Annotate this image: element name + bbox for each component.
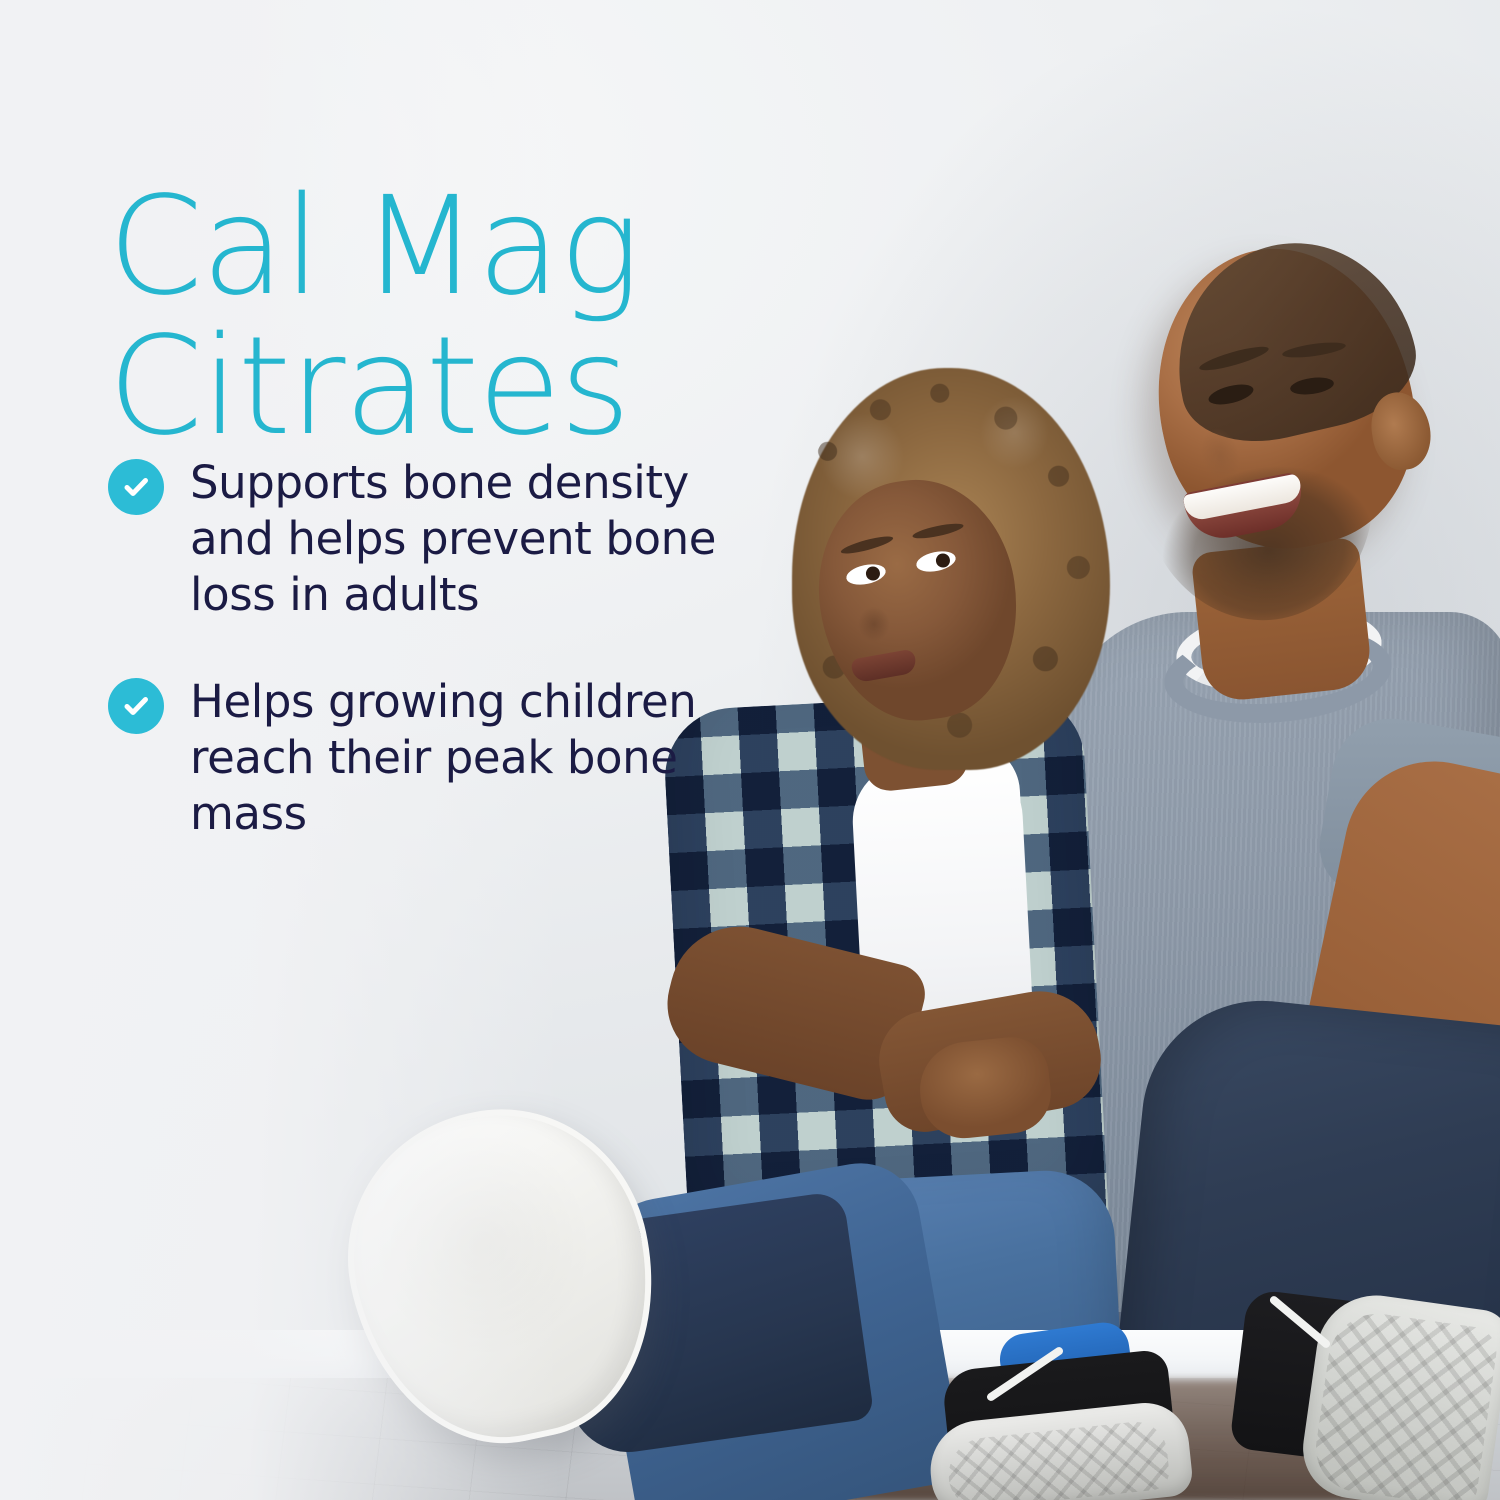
- title-line-1: Cal Mag: [108, 177, 728, 317]
- page-title: Cal Mag Citrates: [108, 177, 728, 457]
- product-marketing-image: Cal Mag Citrates Supports bone density a…: [0, 0, 1500, 1500]
- title-line-2: Citrates: [108, 317, 728, 457]
- check-circle-icon: [108, 459, 164, 515]
- benefit-item-2: Helps growing children reach their peak …: [108, 674, 778, 841]
- benefit-text-2: Helps growing children reach their peak …: [190, 674, 750, 841]
- check-circle-icon: [108, 678, 164, 734]
- benefits-list: Supports bone density and helps prevent …: [108, 455, 778, 894]
- benefit-item-1: Supports bone density and helps prevent …: [108, 455, 778, 622]
- text-overlay: Cal Mag Citrates Supports bone density a…: [0, 0, 1500, 1500]
- benefit-text-1: Supports bone density and helps prevent …: [190, 455, 750, 622]
